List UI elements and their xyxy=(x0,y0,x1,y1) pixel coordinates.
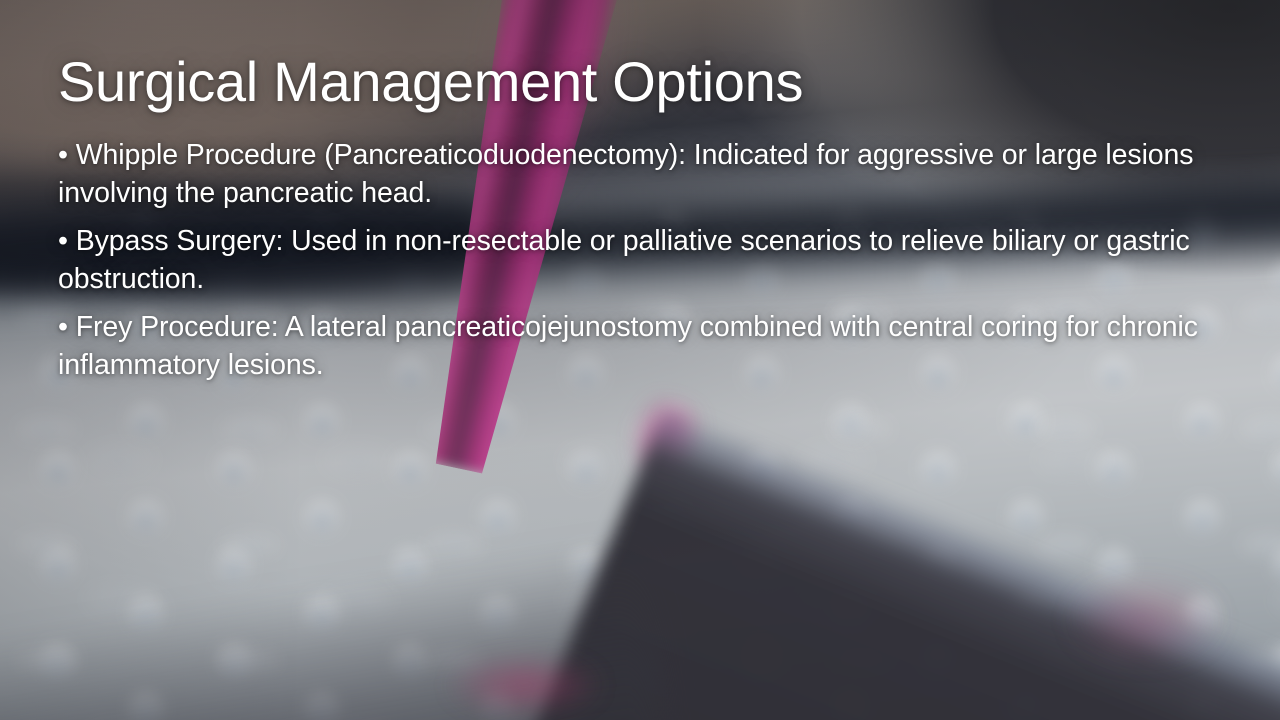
list-item: • Frey Procedure: A lateral pancreaticoj… xyxy=(58,308,1208,384)
list-item: • Whipple Procedure (Pancreaticoduodenec… xyxy=(58,136,1208,212)
presentation-slide: Surgical Management Options • Whipple Pr… xyxy=(0,0,1280,720)
list-item: • Bypass Surgery: Used in non-resectable… xyxy=(58,222,1208,298)
page-title: Surgical Management Options xyxy=(58,0,1218,112)
pink-residue-blob xyxy=(430,650,620,720)
bullet-text: • Bypass Surgery: Used in non-resectable… xyxy=(58,222,1208,298)
bullet-text: • Frey Procedure: A lateral pancreaticoj… xyxy=(58,308,1208,384)
slide-content: Surgical Management Options • Whipple Pr… xyxy=(58,0,1218,394)
pink-residue-blob-right xyxy=(1040,560,1250,680)
bullet-list: • Whipple Procedure (Pancreaticoduodenec… xyxy=(58,136,1218,384)
bullet-text: • Whipple Procedure (Pancreaticoduodenec… xyxy=(58,136,1208,212)
